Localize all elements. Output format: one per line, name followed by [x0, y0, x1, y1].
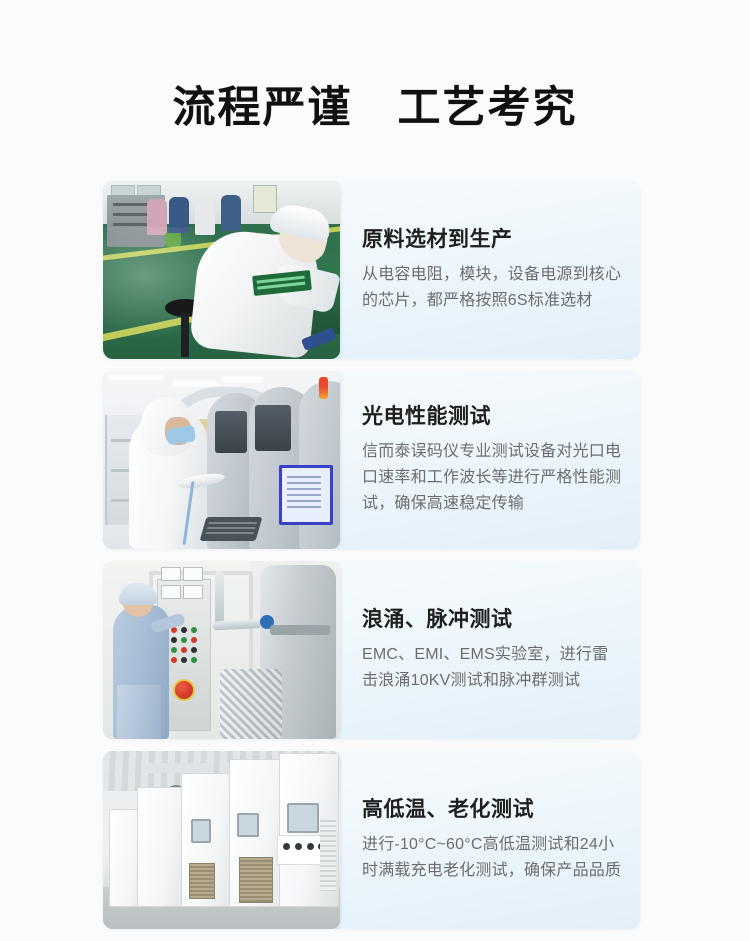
card-description: 从电容电阻，模块，设备电源到核心的芯片，都严格按照6S标准选材 — [362, 262, 622, 314]
climate-chamber-photo — [103, 751, 340, 929]
product-feature-page: 流程严谨 工艺考究 — [0, 29, 750, 929]
card-title: 高低温、老化测试 — [362, 796, 622, 823]
page-title: 流程严谨 工艺考究 — [0, 29, 750, 135]
surge-lab-control-panel-photo — [103, 561, 340, 739]
card-image-optical-test — [103, 371, 340, 549]
card-description: 信而泰误码仪专业测试设备对光口电口速率和工作波长等进行严格性能测试，确保高速稳定… — [362, 439, 622, 517]
card-text: 高低温、老化测试 进行-10°C~60°C高低温测试和24小时满载充电老化测试，… — [340, 751, 640, 929]
assembly-line-photo — [103, 181, 340, 359]
card-text: 原料选材到生产 从电容电阻，模块，设备电源到核心的芯片，都严格按照6S标准选材 — [340, 181, 640, 359]
card-image-surge-lab — [103, 561, 340, 739]
feature-card[interactable]: 光电性能测试 信而泰误码仪专业测试设备对光口电口速率和工作波长等进行严格性能测试… — [103, 371, 640, 549]
feature-card-list: 原料选材到生产 从电容电阻，模块，设备电源到核心的芯片，都严格按照6S标准选材 — [103, 181, 640, 941]
card-title: 浪涌、脉冲测试 — [362, 606, 622, 633]
card-description: 进行-10°C~60°C高低温测试和24小时满载充电老化测试，确保产品品质 — [362, 832, 622, 884]
card-description: EMC、EMI、EMS实验室，进行雷击浪涌10KV测试和脉冲群测试 — [362, 642, 622, 694]
card-title: 原料选材到生产 — [362, 226, 622, 253]
feature-card[interactable]: 原料选材到生产 从电容电阻，模块，设备电源到核心的芯片，都严格按照6S标准选材 — [103, 181, 640, 359]
card-title: 光电性能测试 — [362, 403, 622, 430]
feature-card[interactable]: 高低温、老化测试 进行-10°C~60°C高低温测试和24小时满载充电老化测试，… — [103, 751, 640, 929]
card-text: 光电性能测试 信而泰误码仪专业测试设备对光口电口速率和工作波长等进行严格性能测试… — [340, 371, 640, 549]
card-image-assembly-line — [103, 181, 340, 359]
card-text: 浪涌、脉冲测试 EMC、EMI、EMS实验室，进行雷击浪涌10KV测试和脉冲群测… — [340, 561, 640, 739]
optical-test-cleanroom-photo — [103, 371, 340, 549]
feature-card[interactable]: 浪涌、脉冲测试 EMC、EMI、EMS实验室，进行雷击浪涌10KV测试和脉冲群测… — [103, 561, 640, 739]
card-image-climate-chamber — [103, 751, 340, 929]
